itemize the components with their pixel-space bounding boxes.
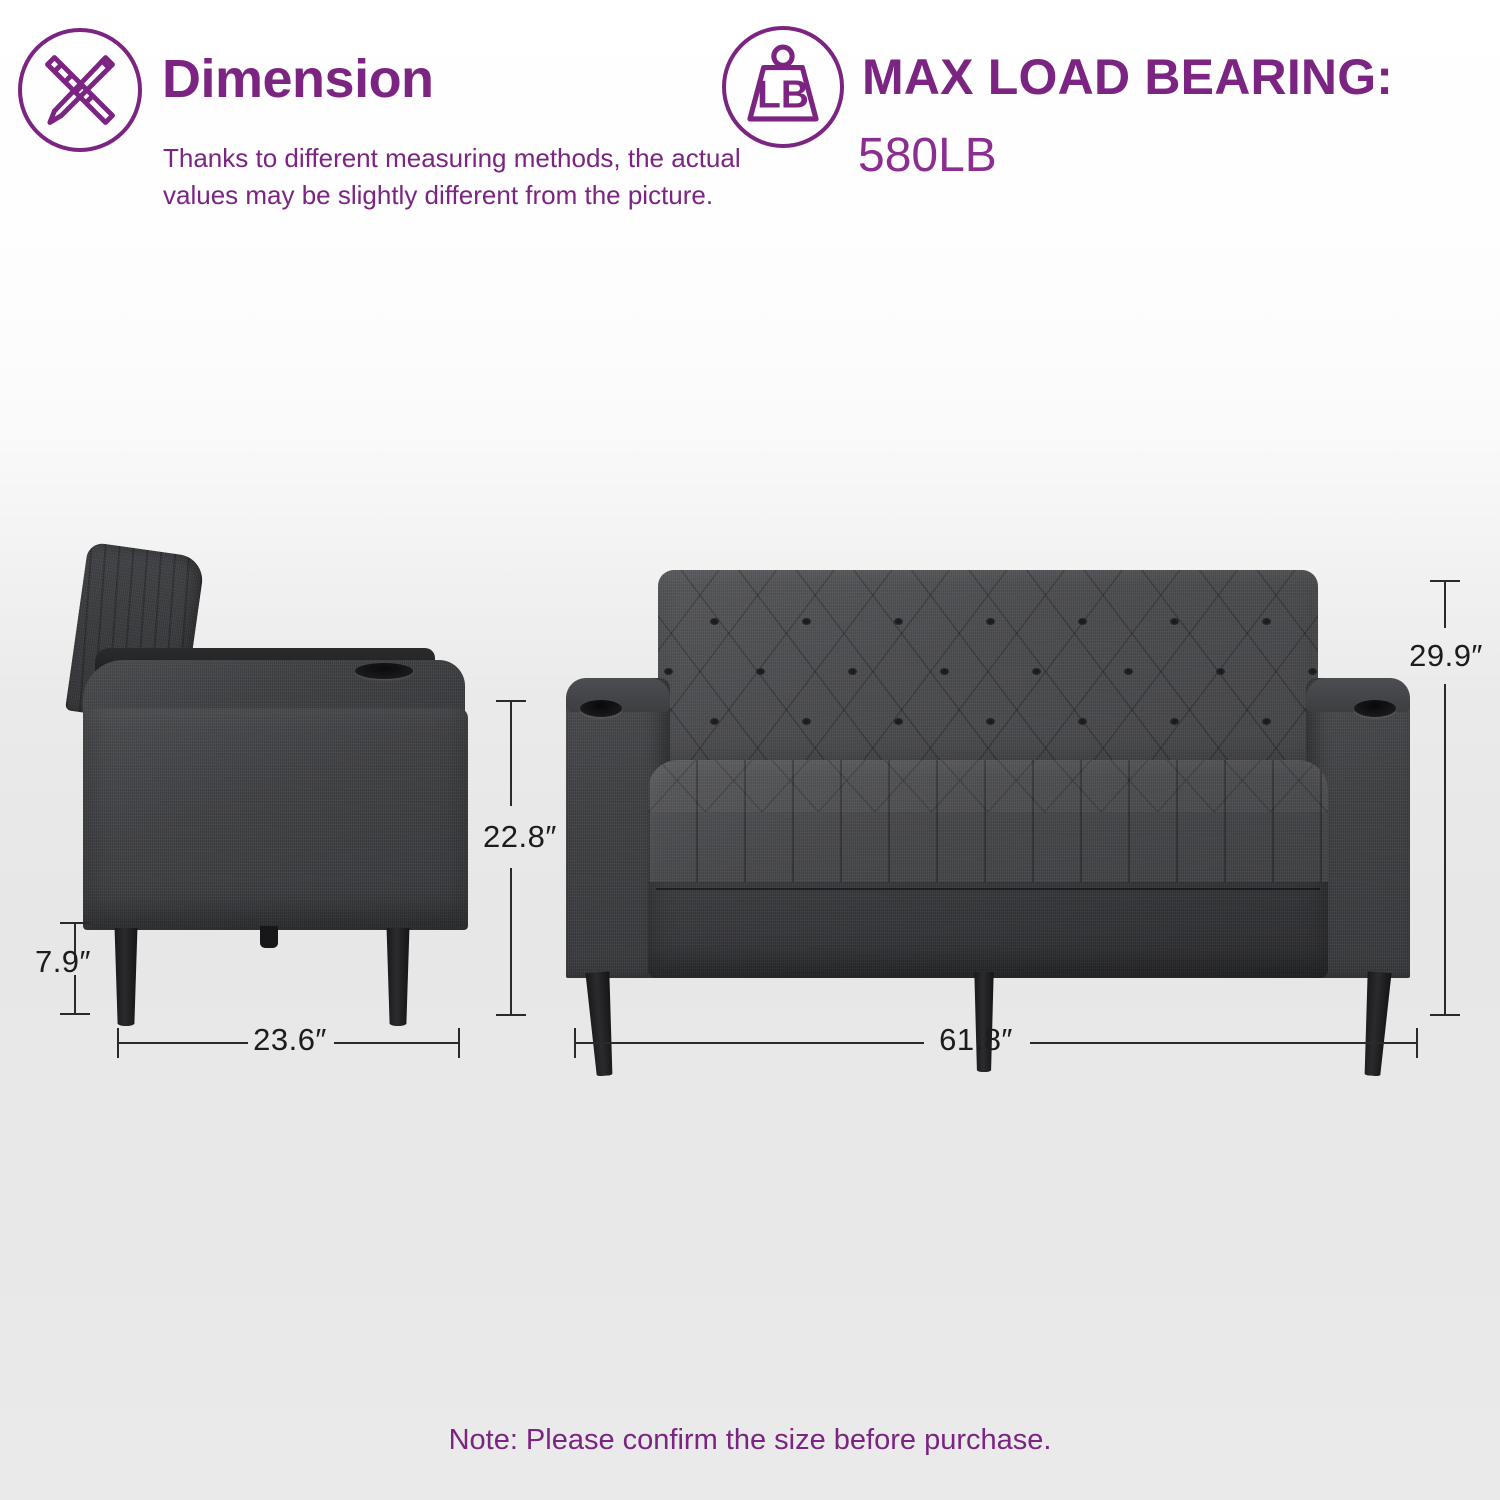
tuft-button (940, 668, 949, 675)
front-leg-right (1359, 971, 1392, 1077)
tuft-button (802, 718, 811, 725)
apron-seam (656, 888, 1320, 890)
sofa-side-view (55, 540, 485, 1015)
dimension-title: Dimension (162, 52, 434, 106)
dimension-total-height-label: 29.9″ (1396, 628, 1496, 684)
dimension-note: Thanks to different measuring methods, t… (163, 140, 763, 214)
tuft-button (1262, 718, 1271, 725)
tuft-button (710, 718, 719, 725)
front-backrest (658, 570, 1318, 770)
tuft-button (1262, 618, 1271, 625)
header: Dimension Thanks to different measuring … (0, 0, 1500, 300)
tuft-button (1078, 618, 1087, 625)
max-load-value: 580LB (858, 132, 997, 180)
weight-icon-label: LB (757, 74, 809, 117)
side-body-panel (83, 708, 468, 930)
side-cup-holder-icon (355, 663, 413, 679)
tuft-button (710, 618, 719, 625)
tuft-button (664, 668, 673, 675)
tuft-button (986, 618, 995, 625)
cup-holder-right-icon (1354, 700, 1396, 717)
side-leg-front (113, 928, 139, 1026)
dimension-depth-label: 23.6″ (248, 1022, 332, 1058)
front-seat-cushion (648, 760, 1328, 890)
tuft-button (1170, 618, 1179, 625)
seat-channel-tufting (648, 760, 1328, 890)
weight-lb-icon: LB (722, 26, 844, 148)
sofa-front-view (548, 570, 1428, 1025)
dimension-seat-height-label: 22.8″ (483, 806, 539, 868)
tuft-button (894, 718, 903, 725)
tuft-button (848, 668, 857, 675)
dimension-leg-height-label: 7.9″ (26, 922, 100, 1002)
tuft-button (1170, 718, 1179, 725)
tuft-button (756, 668, 765, 675)
cup-holder-left-icon (580, 700, 622, 717)
front-base-apron (648, 882, 1328, 978)
max-load-title: MAX LOAD BEARING: (862, 52, 1393, 102)
tuft-button (1078, 718, 1087, 725)
tuft-button (894, 618, 903, 625)
product-dimension-infographic: Dimension Thanks to different measuring … (0, 0, 1500, 1500)
side-center-support (260, 926, 278, 948)
tuft-button (1216, 668, 1225, 675)
tuft-button (1308, 668, 1317, 675)
tuft-button (1032, 668, 1041, 675)
tuft-button (1124, 668, 1133, 675)
front-leg-left (584, 971, 617, 1077)
dimension-width-label: 61.8″ (924, 1022, 1028, 1058)
ruler-pencil-icon (18, 28, 142, 152)
tuft-button (802, 618, 811, 625)
tuft-button (986, 718, 995, 725)
side-leg-back (385, 928, 411, 1026)
footer-note: Note: Please confirm the size before pur… (0, 1424, 1500, 1457)
